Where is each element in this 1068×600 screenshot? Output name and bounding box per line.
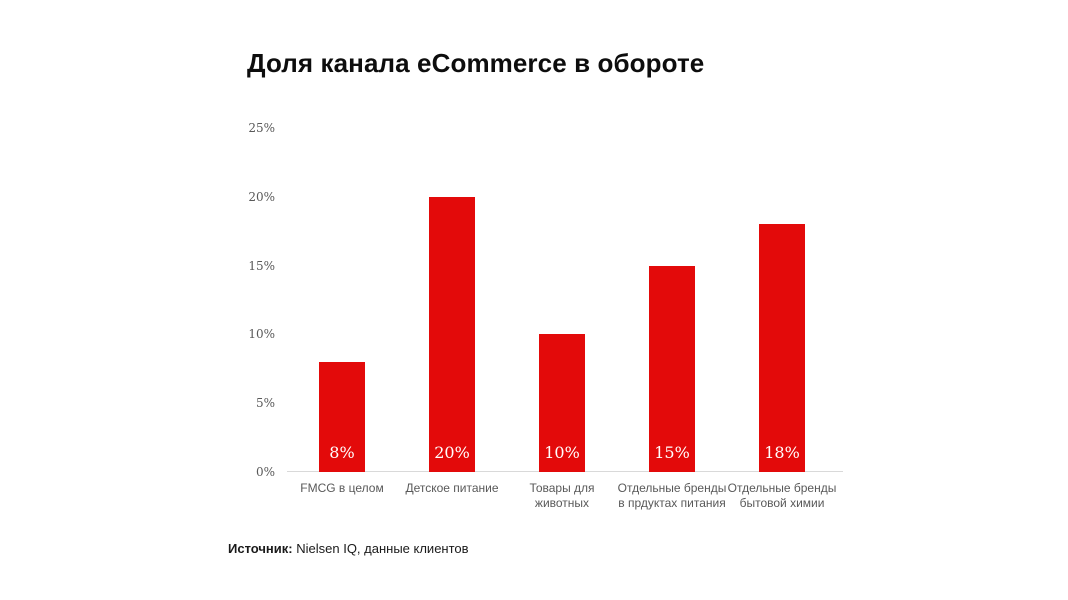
bar-value-label: 10% [539, 443, 585, 462]
source-value: Nielsen IQ, данные клиентов [293, 541, 469, 556]
bar-slot: 8% [287, 0, 397, 600]
bar-value-label: 8% [319, 443, 365, 462]
slide-canvas: Доля канала eCommerce в обороте 25%20%15… [0, 0, 1068, 600]
bar[interactable]: 8% [319, 362, 365, 472]
x-category-label: Отдельные бренды бытовой химии [727, 481, 837, 511]
x-category-label: Отдельные бренды в прдуктах питания [617, 481, 727, 511]
y-axis-tick-labels: 25%20%15%10%5%0% [215, 0, 275, 600]
y-tick-label: 20% [215, 191, 275, 203]
y-tick-label: 5% [215, 397, 275, 409]
bar-value-label: 15% [649, 443, 695, 462]
bar[interactable]: 10% [539, 334, 585, 472]
bar-value-label: 18% [759, 443, 805, 462]
x-category-label: FMCG в целом [287, 481, 397, 496]
bar[interactable]: 20% [429, 197, 475, 472]
bar-value-label: 20% [429, 443, 475, 462]
y-tick-label: 15% [215, 260, 275, 272]
bar[interactable]: 18% [759, 224, 805, 472]
y-tick-label: 0% [215, 466, 275, 478]
source-note: Источник: Nielsen IQ, данные клиентов [228, 541, 469, 556]
bar-slot: 20% [397, 0, 507, 600]
bar[interactable]: 15% [649, 266, 695, 472]
y-tick-label: 25% [215, 122, 275, 134]
source-label: Источник: [228, 541, 293, 556]
x-category-label: Детское питание [397, 481, 507, 496]
y-tick-label: 10% [215, 328, 275, 340]
x-category-label: Товары для животных [507, 481, 617, 511]
